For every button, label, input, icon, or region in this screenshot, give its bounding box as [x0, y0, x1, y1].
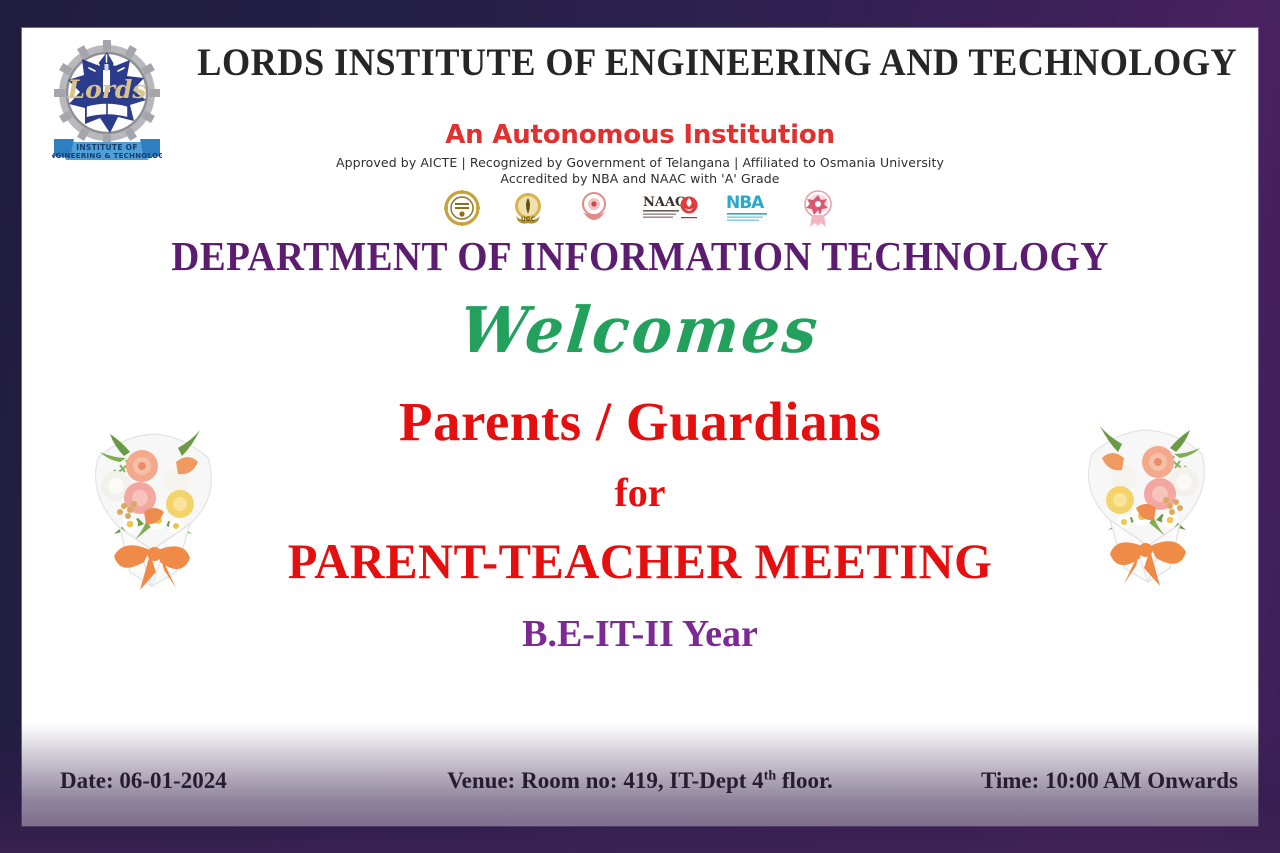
- iso-seal-icon: [574, 188, 614, 228]
- svg-text:Lords: Lords: [67, 75, 147, 104]
- ugc-seal-icon: UGC: [508, 188, 548, 228]
- welcomes-script-text: Welcomes: [22, 294, 1258, 368]
- poster-card: Lords INSTITUTE OF ENGINEERING & TECHNOL…: [22, 28, 1258, 826]
- class-year-text: B.E-IT-II Year: [22, 612, 1258, 656]
- flower-bouquet-icon: [80, 400, 230, 590]
- event-details-row: Date: 06-01-2024 Venue: Room no: 419, IT…: [22, 768, 1258, 794]
- svg-text:NBA: NBA: [726, 193, 765, 213]
- svg-text:NAAC: NAAC: [643, 195, 685, 210]
- approval-line-1: Approved by AICTE | Recognized by Govern…: [22, 155, 1258, 170]
- venue-ordinal-suffix: th: [764, 768, 776, 783]
- venue-text: Venue: Room no: 419, IT-Dept 4: [447, 768, 764, 793]
- event-venue: Venue: Room no: 419, IT-Dept 4th floor.: [422, 768, 858, 794]
- autonomous-status-text: An Autonomous Institution: [22, 120, 1258, 150]
- poster-frame: Lords INSTITUTE OF ENGINEERING & TECHNOL…: [0, 0, 1280, 853]
- rosette-seal-icon: [798, 188, 838, 228]
- naac-logo-icon: NAAC: [640, 188, 698, 228]
- nba-logo-icon: NBA: [724, 188, 772, 228]
- flower-bouquet-icon: [1070, 396, 1220, 586]
- department-title: DEPARTMENT OF INFORMATION TECHNOLOGY: [53, 232, 1227, 280]
- event-time: Time: 10:00 AM Onwards: [858, 768, 1258, 794]
- approval-line-2: Accredited by NBA and NAAC with 'A' Grad…: [22, 171, 1258, 186]
- accreditation-logo-row: UGC NAAC: [22, 188, 1258, 228]
- event-date: Date: 06-01-2024: [22, 768, 422, 794]
- letterhead: Lords INSTITUTE OF ENGINEERING & TECHNOL…: [22, 28, 1258, 210]
- svg-text:UGC: UGC: [521, 216, 536, 223]
- aicte-seal-icon: [442, 188, 482, 228]
- college-name-title: LORDS INSTITUTE OF ENGINEERING AND TECHN…: [197, 40, 1188, 85]
- venue-floor-suffix: floor.: [776, 768, 833, 793]
